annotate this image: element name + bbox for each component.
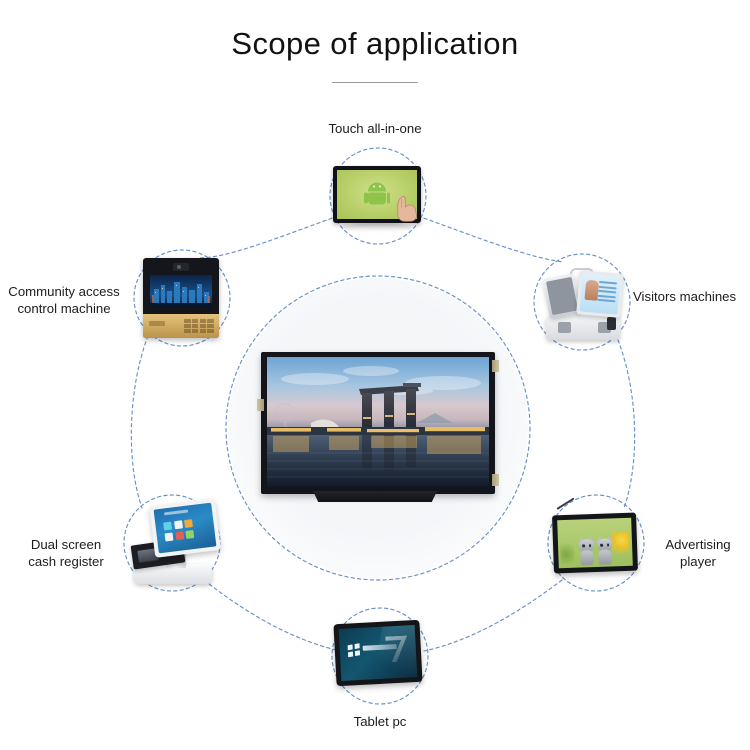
access-control-panel-icon bbox=[143, 258, 219, 338]
screen-glare bbox=[368, 625, 417, 681]
kiosk-base bbox=[546, 316, 620, 340]
windows-logo-icon bbox=[348, 643, 361, 657]
label-advertising-player: Advertising player bbox=[650, 536, 746, 570]
brand-logo bbox=[149, 321, 165, 326]
pos-app-tiles[interactable] bbox=[163, 519, 194, 541]
keypad[interactable] bbox=[143, 314, 219, 338]
label-tablet-pc: Tablet pc bbox=[310, 713, 450, 730]
panel-screen-image bbox=[267, 357, 489, 487]
label-dual-screen-cash-register: Dual screen cash register bbox=[12, 536, 120, 570]
access-screen-image bbox=[150, 275, 212, 308]
camera-icon bbox=[173, 263, 189, 271]
windows-tablet-icon bbox=[333, 620, 422, 686]
lcd-display-panel bbox=[261, 352, 495, 497]
kiosk-primary-screen[interactable] bbox=[576, 270, 624, 318]
pos-main-screen[interactable] bbox=[149, 498, 221, 558]
device-visitors-machines[interactable] bbox=[540, 262, 626, 344]
windows-screen bbox=[339, 625, 418, 681]
kitten-right bbox=[596, 538, 614, 565]
visitor-kiosk-icon bbox=[540, 262, 626, 344]
device-tablet-pc[interactable] bbox=[335, 622, 427, 692]
device-advertising-player[interactable] bbox=[553, 508, 643, 580]
keypad-keys[interactable] bbox=[184, 319, 214, 333]
android-robot-icon bbox=[364, 182, 390, 206]
pos-terminal-icon bbox=[128, 502, 220, 586]
pos-screen-header bbox=[164, 510, 188, 516]
advertising-screen-image bbox=[557, 518, 633, 569]
panel-bezel bbox=[261, 352, 495, 494]
panel-connector-right-top bbox=[492, 360, 499, 372]
yellow-flowers-decor bbox=[611, 532, 630, 559]
kitten-left bbox=[578, 539, 596, 566]
label-visitors-machines: Visitors machines bbox=[633, 288, 750, 305]
digital-photo-frame-icon bbox=[552, 513, 638, 574]
panel-connector-left bbox=[257, 399, 264, 411]
screen-reflection bbox=[341, 223, 413, 232]
infographic-canvas: Scope of application bbox=[0, 0, 750, 750]
foliage-decor bbox=[560, 540, 575, 564]
label-touch-all-in-one: Touch all-in-one bbox=[285, 120, 465, 137]
panel-connector-right-bottom bbox=[492, 474, 499, 486]
device-touch-all-in-one[interactable] bbox=[333, 166, 427, 228]
device-community-access-control[interactable] bbox=[143, 258, 223, 342]
pointing-hand-icon bbox=[391, 192, 421, 222]
card-reader-icon[interactable] bbox=[607, 317, 616, 330]
panel-bottom-tab bbox=[309, 491, 441, 502]
label-community-access-control: Community access control machine bbox=[0, 283, 130, 317]
form-rows bbox=[597, 281, 617, 305]
device-dual-screen-cash-register[interactable] bbox=[128, 502, 220, 586]
kiosk-vent-left bbox=[558, 322, 571, 333]
